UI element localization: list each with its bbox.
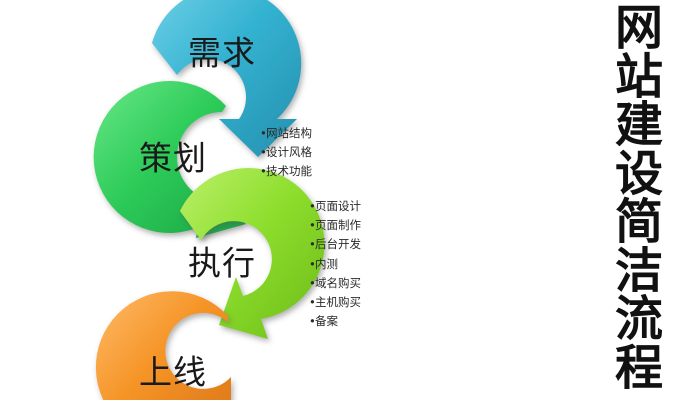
title-char: 网 [596, 4, 682, 53]
list-item: •设计风格 [260, 143, 312, 162]
list-item-label: 域名购买 [315, 276, 361, 290]
list-item: •内测 [309, 255, 361, 274]
title-char: 流 [596, 295, 682, 344]
list-item: •页面制作 [309, 216, 361, 235]
title-char: 站 [596, 53, 682, 102]
list-item-label: 内测 [315, 257, 338, 271]
stage-label-planning: 策划 [139, 142, 207, 175]
bullet-list-execution: •页面设计 •页面制作 •后台开发 •内测 •域名购买 •主机购买 •备案 [309, 197, 361, 331]
list-item-label: 页面制作 [315, 218, 361, 232]
slide-canvas: 需求 策划 执行 上线 •网站结构 •设计风格 •技术功能 •页面设计 •页面制… [0, 0, 700, 400]
process-diagram: 需求 策划 执行 上线 [0, 0, 470, 400]
title-char: 程 [596, 344, 682, 393]
list-item-label: 主机购买 [315, 295, 361, 309]
list-item-label: 设计风格 [266, 145, 312, 159]
title-char: 洁 [596, 247, 682, 296]
stage-label-launch: 上线 [139, 356, 207, 389]
list-item: •后台开发 [309, 235, 361, 254]
title-char: 简 [596, 198, 682, 247]
list-item: •网站结构 [260, 124, 312, 143]
stage-label-execution: 执行 [188, 247, 256, 280]
stage-label-requirement: 需求 [188, 37, 256, 70]
list-item-label: 技术功能 [266, 164, 312, 178]
list-item: •域名购买 [309, 274, 361, 293]
list-item: •页面设计 [309, 197, 361, 216]
list-item: •技术功能 [260, 162, 312, 181]
list-item: •备案 [309, 312, 361, 331]
list-item-label: 后台开发 [315, 237, 361, 251]
list-item-label: 页面设计 [315, 199, 361, 213]
list-item-label: 网站结构 [266, 126, 312, 140]
list-item-label: 备案 [315, 314, 338, 328]
title-char: 建 [596, 101, 682, 150]
title-char: 设 [596, 150, 682, 199]
bullet-list-planning: •网站结构 •设计风格 •技术功能 [260, 124, 312, 181]
page-title: 网 站 建 设 简 洁 流 程 [596, 4, 682, 398]
list-item: •主机购买 [309, 293, 361, 312]
